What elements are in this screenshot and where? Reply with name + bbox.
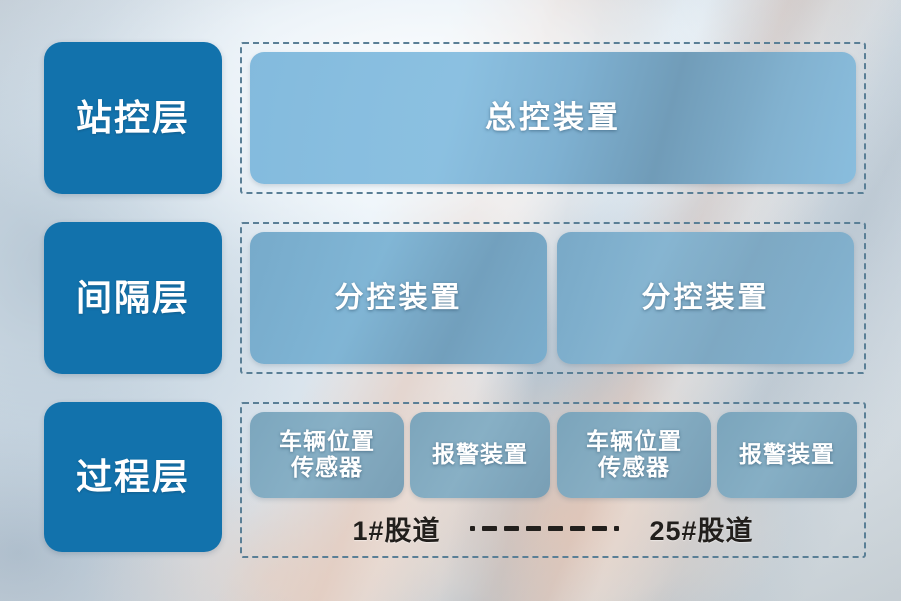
tier-row-process-level: 过程层 车辆位置 传感器 报警装置 车辆位置 传感器 报警装置 1#股道 [0, 402, 901, 558]
device-vehicle-position-sensor-1[interactable]: 车辆位置 传感器 [250, 412, 404, 498]
device-sub-controller-2[interactable]: 分控装置 [557, 232, 854, 364]
device-label: 车辆位置 传感器 [586, 429, 682, 481]
device-sub-controller-1[interactable]: 分控装置 [250, 232, 547, 364]
tier-chip-bay-level[interactable]: 间隔层 [44, 222, 222, 374]
siding-label-last: 25#股道 [649, 509, 753, 548]
tier-container-process-level: 车辆位置 传感器 报警装置 车辆位置 传感器 报警装置 1#股道 25#股 [240, 402, 866, 558]
diagram-canvas: 站控层 总控装置 间隔层 分控装置 分控装置 [0, 0, 901, 601]
device-master-controller[interactable]: 总控装置 [250, 52, 856, 184]
siding-range: 1#股道 25#股道 [250, 504, 856, 552]
tier-chip-label: 间隔层 [76, 280, 190, 316]
tier-container-bay-level: 分控装置 分控装置 [240, 222, 866, 374]
tier-container-station-control: 总控装置 [240, 42, 866, 194]
tier-chip-station-control[interactable]: 站控层 [44, 42, 222, 194]
tier-chip-process-level[interactable]: 过程层 [44, 402, 222, 552]
tier-chip-label: 过程层 [76, 459, 190, 495]
device-alarm-1[interactable]: 报警装置 [410, 412, 550, 498]
siding-label-first: 1#股道 [352, 509, 440, 548]
device-vehicle-position-sensor-2[interactable]: 车辆位置 传感器 [557, 412, 711, 498]
tier-chip-label: 站控层 [76, 100, 190, 136]
device-label: 分控装置 [334, 282, 462, 314]
device-label: 分控装置 [641, 282, 769, 314]
tier-row-station-control: 站控层 总控装置 [0, 42, 901, 194]
device-label: 车辆位置 传感器 [279, 429, 375, 481]
device-label: 总控装置 [485, 101, 621, 136]
device-label: 报警装置 [432, 442, 528, 468]
siding-ellipsis-icon [466, 526, 623, 531]
device-alarm-2[interactable]: 报警装置 [717, 412, 857, 498]
architecture-diagram: 站控层 总控装置 间隔层 分控装置 分控装置 [0, 0, 901, 601]
device-label: 报警装置 [739, 442, 835, 468]
tier-row-bay-level: 间隔层 分控装置 分控装置 [0, 222, 901, 374]
